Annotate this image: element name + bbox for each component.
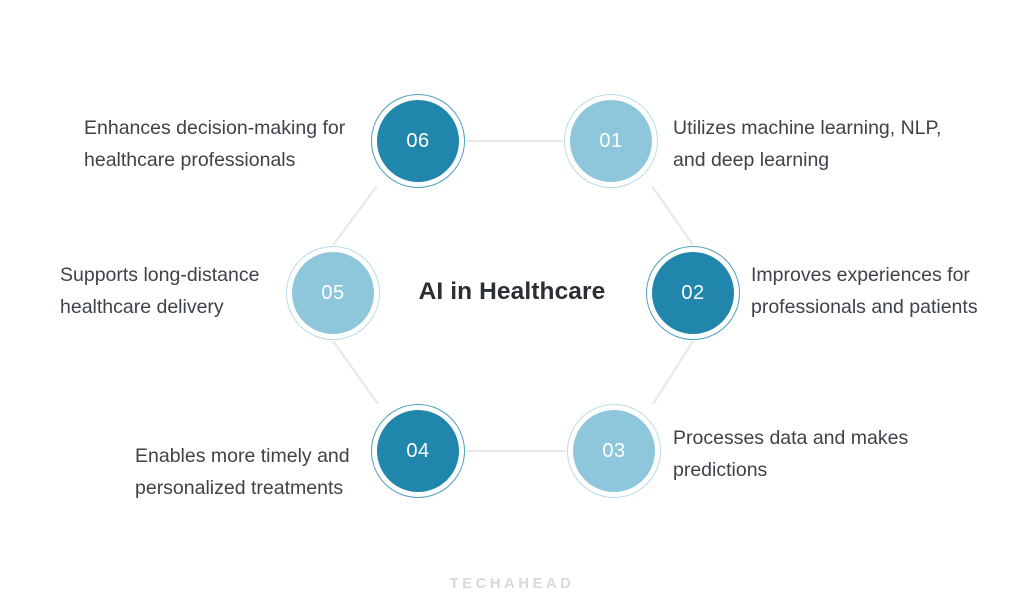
brand-watermark: TECHAHEAD: [0, 575, 1024, 592]
center-title: AI in Healthcare: [362, 278, 662, 306]
node-03-label: Processes data and makes predictions: [673, 422, 1003, 486]
node-03-disc: 03: [573, 410, 655, 492]
node-01-label: Utilizes machine learning, NLP, and deep…: [673, 112, 1003, 176]
node-04-label-line1: Enables more timely and: [135, 440, 375, 472]
node-02-disc: 02: [652, 252, 734, 334]
node-03-label-line2: predictions: [673, 454, 1003, 486]
node-05-label-line2: healthcare delivery: [60, 291, 290, 323]
node-02-number: 02: [681, 283, 704, 303]
node-04-number: 04: [406, 441, 429, 461]
node-01-label-line2: and deep learning: [673, 144, 1003, 176]
node-04[interactable]: 04: [371, 404, 465, 498]
node-03[interactable]: 03: [567, 404, 661, 498]
node-01-label-line1: Utilizes machine learning, NLP,: [673, 112, 1003, 144]
node-02-label-line1: Improves experiences for: [751, 259, 1024, 291]
node-06-disc: 06: [377, 100, 459, 182]
node-05-label-line1: Supports long-distance: [60, 259, 290, 291]
node-04-label: Enables more timely and personalized tre…: [135, 440, 375, 504]
node-06-label-line1: Enhances decision-making for: [84, 112, 374, 144]
node-01-number: 01: [599, 131, 622, 151]
node-06-label: Enhances decision-making for healthcare …: [84, 112, 374, 176]
node-06-number: 06: [406, 131, 429, 151]
node-04-disc: 04: [377, 410, 459, 492]
infographic-canvas: 06 Enhances decision-making for healthca…: [0, 0, 1024, 609]
node-05-number: 05: [321, 283, 344, 303]
node-06-label-line2: healthcare professionals: [84, 144, 374, 176]
node-01-disc: 01: [570, 100, 652, 182]
node-05-label: Supports long-distance healthcare delive…: [60, 259, 290, 323]
node-01[interactable]: 01: [564, 94, 658, 188]
node-04-label-line2: personalized treatments: [135, 472, 375, 504]
node-03-number: 03: [602, 441, 625, 461]
node-02-label: Improves experiences for professionals a…: [751, 259, 1024, 323]
node-03-label-line1: Processes data and makes: [673, 422, 1003, 454]
node-02-label-line2: professionals and patients: [751, 291, 1024, 323]
node-06[interactable]: 06: [371, 94, 465, 188]
